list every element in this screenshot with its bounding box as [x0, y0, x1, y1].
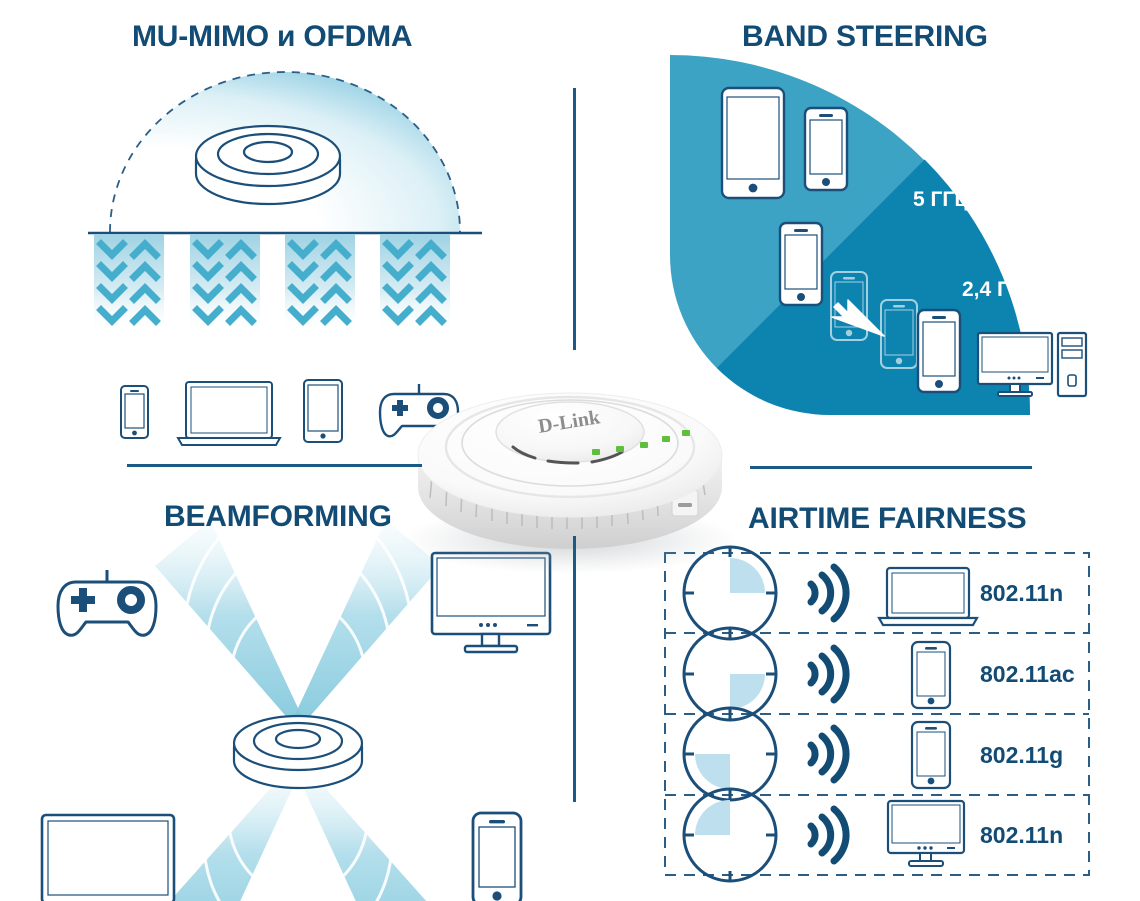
wifi-signal-icon-row-1	[811, 567, 846, 619]
band-label-24ghz: 2,4 ГГц	[962, 278, 1034, 302]
access-point-icon-beamforming	[234, 716, 362, 788]
clock-icon-row-2	[684, 628, 776, 720]
mumimo-group	[88, 72, 482, 445]
divider-horizontal-right	[750, 466, 1032, 469]
band-sector-5ghz	[670, 55, 1030, 415]
access-point-icon-mumimo	[196, 126, 340, 204]
laptop-icon-beamforming	[32, 815, 184, 901]
airtime-row-2	[684, 628, 950, 720]
gamepad-icon-mumimo	[380, 384, 458, 436]
smartphone-ghost-icon-target	[831, 272, 867, 340]
page-title-band-steering: BAND STEERING	[742, 20, 988, 54]
stream-column	[190, 234, 260, 334]
ap-port-slot	[678, 503, 692, 507]
ap-inner-dome	[496, 402, 644, 462]
airtime-row-3	[684, 708, 950, 800]
stream-column	[94, 234, 164, 334]
ap-body-side	[418, 455, 722, 549]
laptop-icon-mumimo	[178, 382, 280, 445]
beam-wedge-lower-left	[152, 764, 300, 901]
clock-icon-row-3	[684, 708, 776, 800]
smartphone-ghost-icon-source	[881, 300, 917, 368]
gamepad-icon-beamforming	[58, 570, 156, 635]
ap-ring-outer	[446, 397, 694, 497]
ap-dome-slots	[513, 447, 622, 463]
stream-column	[285, 234, 355, 334]
ap-shadow	[402, 506, 738, 574]
ap-top-disc	[418, 393, 722, 517]
wifi-signal-icon-row-2	[811, 648, 846, 700]
ap-vents	[430, 476, 705, 529]
airtime-row-1	[684, 547, 977, 639]
band-inner-cutout	[670, 255, 830, 415]
divider-vertical-bottom	[573, 536, 576, 802]
beam-wedge-lower-right	[296, 764, 444, 901]
ap-ring-mid	[462, 400, 678, 486]
clock-icon-row-4	[684, 789, 776, 881]
monitor-icon-beamforming	[432, 553, 550, 652]
monitor-icon-airtime-4	[888, 801, 964, 866]
desktop-computer-icon-band	[978, 333, 1086, 396]
wifi-signal-icon-row-3	[811, 728, 846, 780]
beam-wedge-upper-left	[130, 520, 305, 745]
divider-horizontal-left	[127, 464, 422, 467]
page-title-mu-mimo: MU-MIMO и OFDMA	[132, 20, 412, 54]
airtime-label-row-4: 802.11n	[980, 822, 1063, 849]
graphics-layer: D-Link	[0, 0, 1140, 901]
page-title-beamforming: BEAMFORMING	[164, 500, 392, 534]
ap-led-indicators	[592, 430, 690, 455]
smartphone-icon-band-1	[805, 108, 847, 190]
tablet-icon-band	[722, 88, 784, 198]
divider-vertical-top	[573, 88, 576, 350]
coverage-dome-fill	[110, 72, 460, 232]
ap-port-recess	[672, 490, 698, 516]
smartphone-icon-airtime-2	[912, 642, 950, 708]
smartphone-icon-mumimo	[121, 386, 148, 438]
airtime-label-row-1: 802.11n	[980, 580, 1063, 607]
laptop-icon-airtime-1	[879, 568, 977, 625]
mumimo-stream-columns	[94, 234, 450, 334]
airtime-label-row-2: 802.11ac	[980, 661, 1075, 688]
stream-column	[380, 234, 450, 334]
beam-wedge-upper-right	[291, 520, 441, 730]
access-point-photo-group: D-Link	[402, 393, 738, 574]
band-steering-arrow-icon	[832, 300, 884, 336]
wifi-signal-icon-row-4	[811, 809, 846, 861]
band-label-5ghz: 5 ГГц	[913, 188, 967, 212]
airtime-label-row-3: 802.11g	[980, 742, 1063, 769]
airtime-row-4	[684, 789, 964, 881]
smartphone-icon-band-3	[918, 310, 960, 392]
smartphone-icon-airtime-3	[912, 722, 950, 788]
beamforming-group	[32, 520, 550, 901]
page-title-airtime-fairness: AIRTIME FAIRNESS	[748, 502, 1027, 536]
clock-icon-row-1	[684, 547, 776, 639]
dlink-logo-text: D-Link	[537, 406, 603, 438]
smartphone-icon-band-2	[780, 223, 822, 305]
tablet-icon-mumimo	[304, 380, 342, 442]
coverage-dome-outline	[110, 72, 460, 232]
band-steering-group	[670, 55, 1086, 415]
smartphone-icon-beamforming	[473, 813, 521, 901]
infographic-canvas: D-Link MU-MIMO и OFDMA BAND STEERING BEA…	[0, 0, 1140, 901]
